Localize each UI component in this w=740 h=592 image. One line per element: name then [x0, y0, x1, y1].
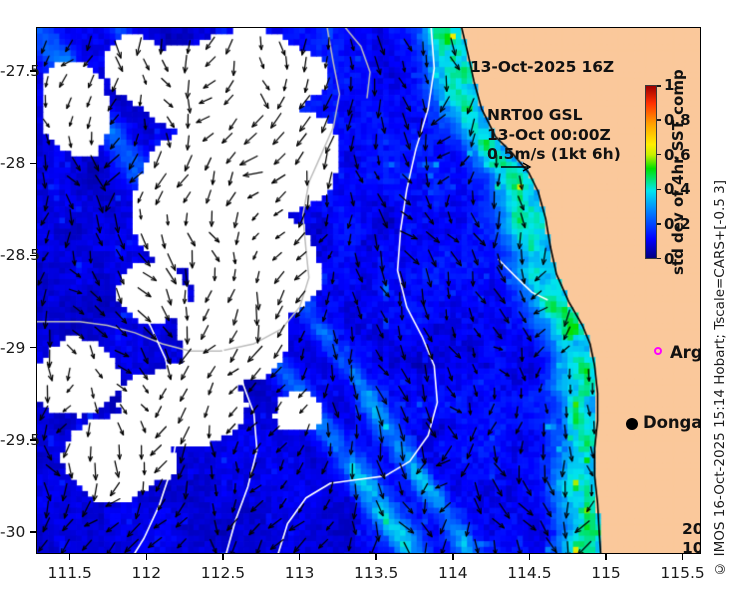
colorbar-title: std dev of 4hr SST comp: [668, 85, 688, 259]
product-name: NRT00 GSL: [487, 106, 621, 126]
y-axis-label: -27.5: [0, 62, 25, 80]
x-axis-tick: [222, 554, 224, 560]
x-axis-tick: [605, 554, 607, 560]
x-axis-label: 111.5: [48, 564, 92, 582]
dongara-marker-icon: [626, 418, 638, 430]
x-axis-label: 112.5: [201, 564, 245, 582]
colorbar-tick: [657, 258, 661, 260]
y-axis-label: -29.5: [0, 431, 25, 449]
y-axis-label: -28.5: [0, 246, 25, 264]
argo-label: Argo: [670, 343, 701, 362]
product-annotation: NRT00 GSL 13-Oct 00:00Z 0.5m/s (1kt 6h): [487, 106, 621, 165]
y-axis-label: -28: [0, 154, 25, 172]
x-axis-tick: [69, 554, 71, 560]
y-axis-tick: [30, 531, 36, 533]
x-axis-label: 115.5: [660, 564, 704, 582]
x-axis-tick: [299, 554, 301, 560]
y-axis-tick: [30, 163, 36, 165]
depth-contour-legend: 200m 1000m: [682, 520, 701, 554]
dongara-label: Dongara: [643, 413, 701, 432]
colorbar-gradient: [645, 85, 657, 259]
x-axis-label: 115: [591, 564, 621, 582]
map-plot-area[interactable]: 13-Oct-2025 16Z NRT00 GSL 13-Oct 00:00Z …: [36, 27, 701, 554]
argo-marker-icon: [654, 347, 662, 355]
colorbar-tick: [657, 189, 661, 191]
colorbar-tick: [657, 119, 661, 121]
y-axis-tick: [30, 347, 36, 349]
credit-text: © IMOS 16-Oct-2025 15:14 Hobart; Tscale=…: [712, 180, 728, 577]
map-title-date: 13-Oct-2025 16Z: [470, 58, 614, 76]
x-axis-tick: [146, 554, 148, 560]
colorbar: 10.80.60.40.20: [645, 85, 657, 259]
x-axis-label: 114: [438, 564, 468, 582]
x-axis-label: 112: [132, 564, 162, 582]
product-time: 13-Oct 00:00Z: [487, 126, 621, 146]
colorbar-tick: [657, 223, 661, 225]
x-axis-label: 114.5: [507, 564, 551, 582]
y-axis-label: -30: [0, 523, 25, 541]
depth-legend-1000m: 1000m: [682, 539, 701, 554]
right-arrow-icon: [500, 161, 534, 173]
x-axis-label: 113: [285, 564, 315, 582]
colorbar-tick: [657, 154, 661, 156]
x-axis-label: 113.5: [354, 564, 398, 582]
x-axis-tick: [682, 554, 684, 560]
y-axis-label: -29: [0, 339, 25, 357]
x-axis-tick: [529, 554, 531, 560]
x-axis-tick: [452, 554, 454, 560]
colorbar-tick: [657, 85, 661, 87]
x-axis-tick: [375, 554, 377, 560]
depth-legend-200m: 200m: [682, 520, 701, 539]
